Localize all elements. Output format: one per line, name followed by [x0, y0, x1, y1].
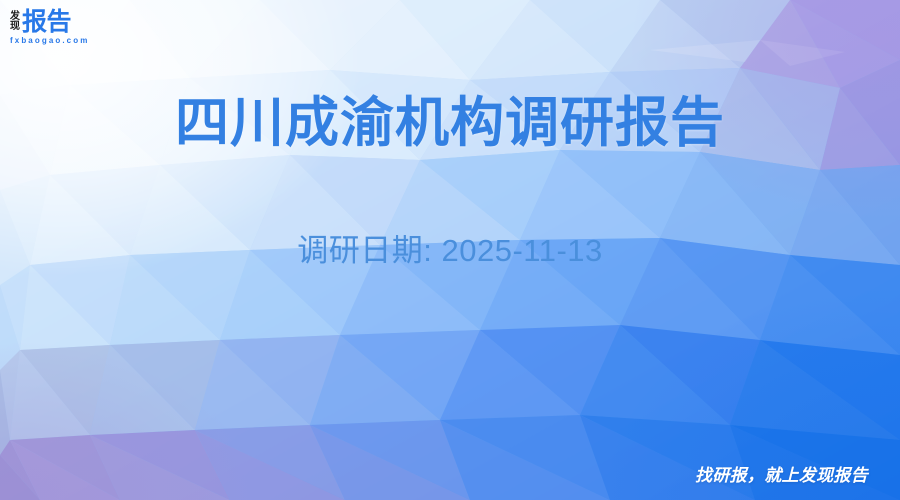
- logo-char-xian: 现: [10, 22, 20, 32]
- logo-wordmark-row: 发 现 报告: [10, 9, 71, 34]
- brand-logo[interactable]: 发 现 报告 fxbaogao.com: [10, 9, 89, 45]
- logo-stacked-characters: 发 现: [10, 11, 20, 32]
- low-poly-background: [0, 0, 900, 500]
- logo-main-text: 报告: [22, 9, 71, 34]
- logo-domain-text: fxbaogao.com: [10, 36, 89, 45]
- footer-tagline: 找研报，就上发现报告: [695, 461, 868, 486]
- title-slide: 发 现 报告 fxbaogao.com 四川成渝机构调研报告 调研日期: 202…: [0, 0, 900, 500]
